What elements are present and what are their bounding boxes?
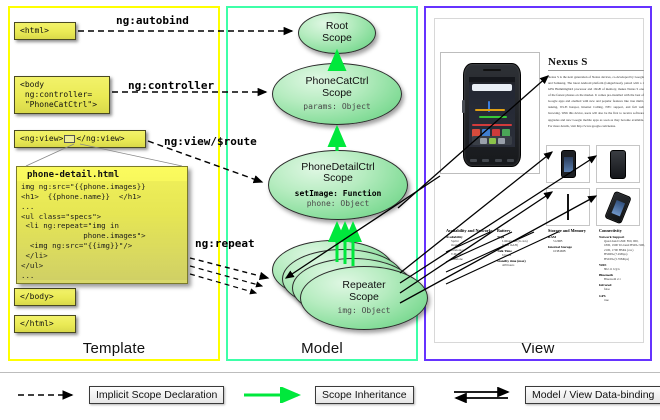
spec-heading-availability: Availability and Networks: [446, 228, 493, 233]
phonedetailctrl-scope-prop-phone: phone: Object: [307, 199, 370, 209]
article-title: Nexus S: [548, 56, 644, 68]
label-ng-autobind: ng:autobind: [116, 14, 189, 27]
phone-speaker: [483, 69, 501, 71]
dock-icon-1: [480, 138, 487, 144]
spec-heading-connectivity: Connectivity: [599, 228, 646, 233]
nav-button-back: [470, 159, 477, 162]
wallpaper-line-red: [472, 124, 512, 126]
nexus-s-phone-image: [463, 63, 521, 167]
thumb-edge-icon: [567, 194, 569, 220]
phone-detail-note-code: img ng:src="{{phone.images}} <h1> {{phon…: [17, 181, 187, 280]
spec-val-wifi: 802.11 b/g/n: [604, 267, 646, 272]
spec-val-bluetooth: Bluetooth 2.1: [604, 277, 646, 282]
legend: Implicit Scope Declaration Scope Inherit…: [0, 372, 660, 420]
spec-col-battery: Battery Type Lithium Ion (Li-Ion) (1500 …: [497, 228, 544, 302]
spec-val-ram: 512MB: [553, 239, 595, 244]
article-divider: [548, 70, 644, 71]
phone-thumbnail-grid: [546, 145, 644, 231]
spec-heading-battery: Battery: [497, 228, 544, 233]
repeater-scope: RepeaterScope img: Object: [300, 266, 428, 330]
body-close-tag: </body>: [14, 288, 76, 306]
wallpaper-line-orange: [475, 109, 505, 111]
ng-view-slot-icon: [64, 135, 75, 143]
nav-button-home: [507, 159, 514, 162]
thumb-back-icon: [610, 150, 626, 179]
thumb-angle[interactable]: [596, 188, 640, 226]
phonecatctrl-scope-prop-params: params: Object: [303, 102, 370, 112]
diagram-canvas: Template Model View <html> <body ng:cont…: [0, 0, 660, 420]
phonecatctrl-scope-title: PhoneCatCtrlScope: [305, 76, 368, 100]
spec-val-infrared: false: [604, 287, 646, 292]
label-ng-controller: ng:controller: [128, 79, 214, 92]
phonedetailctrl-scope: PhoneDetailCtrlScope setImage: Function …: [268, 150, 408, 220]
dock-icon-3: [498, 138, 505, 144]
spec-heading-storage: Storage and Memory: [548, 228, 595, 233]
spec-val-network-0: Quad-band GSM: 850, 900, 1800, 1900 Tri-…: [604, 239, 646, 253]
thumb-back[interactable]: [596, 145, 640, 183]
thumb-front[interactable]: [546, 145, 590, 183]
phone-status-bar: [469, 77, 515, 82]
thumbnail-row-1: [546, 145, 644, 183]
legend-implicit-scope-declaration: Implicit Scope Declaration: [16, 386, 224, 404]
html-open-tag: <html>: [14, 22, 76, 40]
spec-table: Availability and Networks Availability S…: [446, 228, 646, 302]
legend-label-implicit: Implicit Scope Declaration: [89, 386, 224, 404]
html-close-tag: </html>: [14, 315, 76, 333]
body-controller-tag: <body ng:controller= "PhoneCatCtrl">: [14, 76, 110, 114]
thumb-edge[interactable]: [546, 188, 590, 226]
spec-val-network-2: HSUPA (5.76Mbps): [604, 257, 646, 262]
dock-icon-2: [489, 138, 496, 144]
label-ng-repeat: ng:repeat: [195, 237, 255, 250]
panel-label-model: Model: [228, 340, 416, 357]
wallpaper-line-green: [479, 116, 507, 118]
thumb-front-icon: [561, 150, 576, 178]
phone-hero-image-frame: [440, 52, 540, 174]
nexus-s-article: Nexus S Nexus S is the next generation o…: [548, 56, 644, 129]
repeater-scope-title: RepeaterScope: [342, 280, 385, 304]
thumb-angle-icon: [604, 190, 632, 224]
legend-label-inheritance: Scope Inheritance: [315, 386, 414, 404]
label-ng-view-route: ng:view/$route: [164, 135, 257, 148]
phonedetailctrl-scope-prop-setimage: setImage: Function: [295, 189, 382, 199]
phone-dock-tray: [472, 136, 512, 145]
spec-val-availability-4: Vodafone: [451, 257, 493, 262]
root-scope-title: RootScope: [322, 21, 352, 45]
phone-detail-note: phone-detail.html img ng:src="{{phone.im…: [16, 166, 188, 284]
panel-label-template: Template: [10, 340, 218, 357]
ng-view-close: </ng:view>: [76, 134, 124, 143]
legend-divider: [0, 372, 660, 373]
repeater-scope-prop-img: img: Object: [338, 306, 391, 316]
spec-val-battery-talktime: 6 hours: [502, 253, 544, 258]
solid-arrow-icon: [242, 387, 308, 403]
phone-nav-buttons: [469, 157, 515, 164]
spec-col-availability: Availability and Networks Availability S…: [446, 228, 493, 302]
legend-label-binding: Model / View Data-binding: [525, 386, 660, 404]
spec-col-storage: Storage and Memory RAM 512MB Internal St…: [548, 228, 595, 302]
spec-val-internal-storage: 16384MB: [553, 249, 595, 254]
root-scope: RootScope: [298, 12, 376, 54]
spec-val-gps: true: [604, 298, 646, 303]
thumbnail-row-2: [546, 188, 644, 226]
phone-screen: [469, 77, 515, 147]
spec-col-connectivity: Connectivity Network Support Quad-band G…: [599, 228, 646, 302]
phonedetailctrl-scope-title: PhoneDetailCtrlScope: [301, 162, 375, 186]
phone-search-widget: [472, 84, 512, 91]
article-body: Nexus S is the next generation of Nexus …: [548, 74, 644, 129]
phone-volume-button: [462, 100, 465, 113]
spec-val-battery-standby: 428 hours: [502, 263, 544, 268]
double-arrow-icon: [452, 387, 518, 403]
legend-data-binding: Model / View Data-binding: [452, 386, 660, 404]
ng-view-tag: <ng:view></ng:view>: [14, 130, 146, 148]
dashed-arrow-icon: [16, 387, 82, 403]
nav-button-menu: [482, 159, 489, 162]
nav-button-search: [495, 159, 502, 162]
phonecatctrl-scope: PhoneCatCtrlScope params: Object: [272, 63, 402, 125]
phone-detail-note-title: phone-detail.html: [17, 167, 187, 181]
spec-columns: Availability and Networks Availability S…: [446, 228, 646, 302]
ng-view-open: <ng:view>: [20, 134, 63, 143]
spec-val-battery-type-1: (1500 mAH): [502, 243, 544, 248]
legend-scope-inheritance: Scope Inheritance: [242, 386, 414, 404]
